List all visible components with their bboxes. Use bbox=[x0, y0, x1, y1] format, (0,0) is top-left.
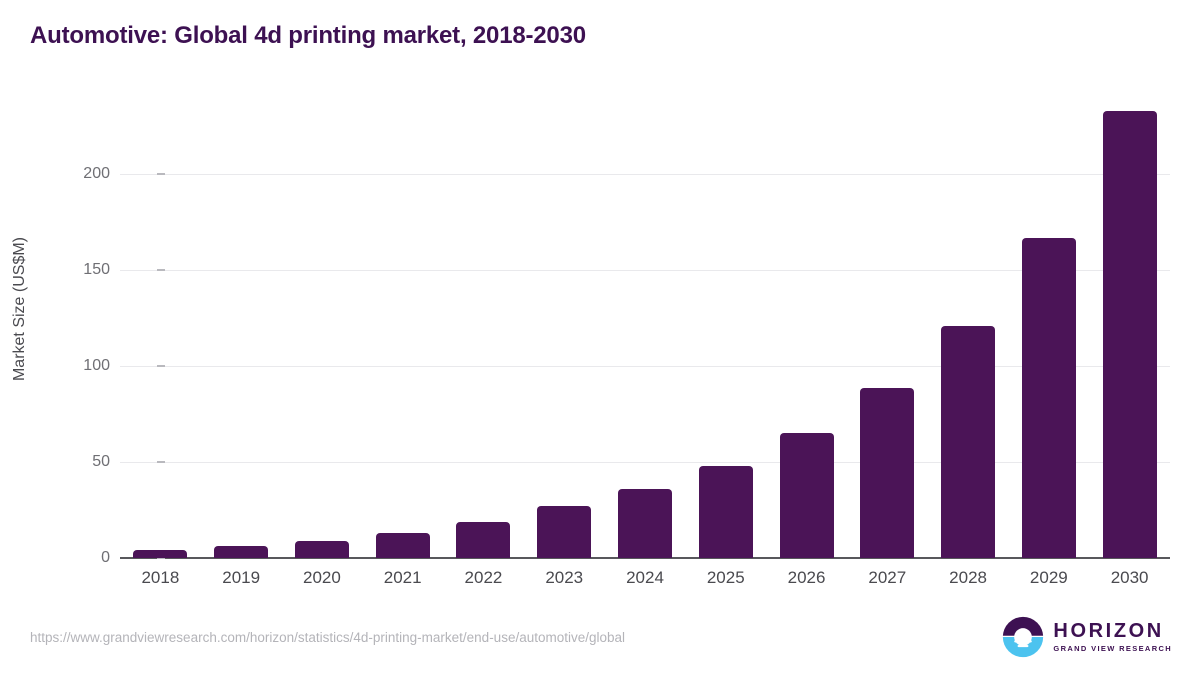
bar-series bbox=[120, 95, 1170, 558]
x-tick-label: 2020 bbox=[282, 568, 363, 588]
x-tick-label: 2027 bbox=[847, 568, 928, 588]
chart-page: Automotive: Global 4d printing market, 2… bbox=[0, 0, 1200, 675]
x-tick-label: 2018 bbox=[120, 568, 201, 588]
bar-2025[interactable] bbox=[699, 466, 753, 558]
bar-2021[interactable] bbox=[376, 533, 430, 558]
bar-2018[interactable] bbox=[133, 550, 187, 558]
brand-logo[interactable]: HORIZON GRAND VIEW RESEARCH bbox=[1002, 616, 1172, 658]
brand-name: HORIZON bbox=[1053, 621, 1172, 642]
page-title: Automotive: Global 4d printing market, 2… bbox=[30, 22, 586, 50]
y-axis-title: Market Size (US$M) bbox=[11, 139, 29, 479]
bar-2029[interactable] bbox=[1022, 238, 1076, 558]
brand-tagline: GRAND VIEW RESEARCH bbox=[1053, 644, 1172, 653]
x-tick-label: 2029 bbox=[1008, 568, 1089, 588]
horizon-sun-circle-icon bbox=[1002, 616, 1044, 658]
y-tick-label: 200 bbox=[50, 165, 110, 183]
x-tick-label: 2023 bbox=[524, 568, 605, 588]
source-url[interactable]: https://www.grandviewresearch.com/horizo… bbox=[30, 630, 625, 645]
y-tick-label: 0 bbox=[50, 549, 110, 567]
y-tick-label: 100 bbox=[50, 357, 110, 375]
x-tick-label: 2026 bbox=[766, 568, 847, 588]
y-tick-label: 150 bbox=[50, 261, 110, 279]
x-tick-label: 2030 bbox=[1089, 568, 1170, 588]
x-tick-label: 2019 bbox=[201, 568, 282, 588]
bar-2019[interactable] bbox=[214, 546, 268, 558]
x-tick-label: 2022 bbox=[443, 568, 524, 588]
x-tick-label: 2024 bbox=[605, 568, 686, 588]
bar-2020[interactable] bbox=[295, 541, 349, 558]
bar-2023[interactable] bbox=[537, 506, 591, 558]
x-axis-ticks: 2018201920202021202220232024202520262027… bbox=[120, 568, 1170, 598]
bar-2024[interactable] bbox=[618, 489, 672, 558]
logo-wordmark: HORIZON GRAND VIEW RESEARCH bbox=[1053, 621, 1172, 653]
x-tick-label: 2021 bbox=[362, 568, 443, 588]
bar-2026[interactable] bbox=[780, 433, 834, 558]
bar-2028[interactable] bbox=[941, 326, 995, 558]
x-tick-label: 2025 bbox=[685, 568, 766, 588]
bar-2022[interactable] bbox=[456, 522, 510, 558]
y-axis-ticks: 050100150200 bbox=[45, 0, 110, 675]
bar-2030[interactable] bbox=[1103, 111, 1157, 558]
bar-2027[interactable] bbox=[860, 388, 914, 558]
y-tick-label: 50 bbox=[50, 453, 110, 471]
x-tick-label: 2028 bbox=[928, 568, 1009, 588]
